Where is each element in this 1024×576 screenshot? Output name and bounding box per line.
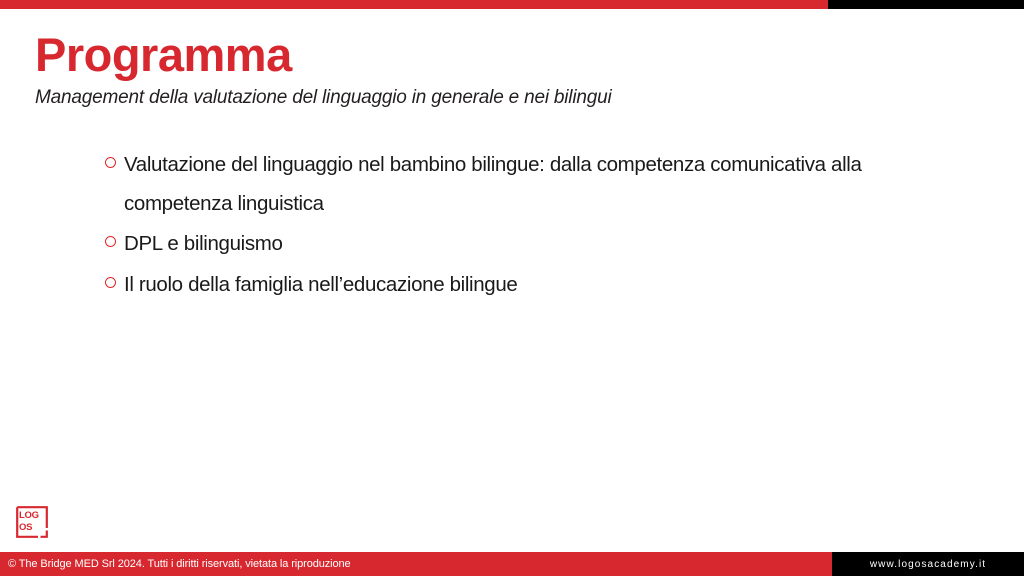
list-item-label: DPL e bilinguismo <box>124 225 283 264</box>
circle-bullet-icon <box>105 157 116 168</box>
bullet-list: Valutazione del linguaggio nel bambino b… <box>105 146 925 306</box>
footer-right-black-segment: www.logosacademy.it <box>832 552 1024 576</box>
top-accent-bar-black-segment <box>828 0 1024 9</box>
list-item-label: Valutazione del linguaggio nel bambino b… <box>124 146 925 223</box>
list-item-label: Il ruolo della famiglia nell’educazione … <box>124 266 517 305</box>
page-title: Programma <box>35 30 935 79</box>
heading-block: Programma Management della valutazione d… <box>35 30 935 109</box>
top-accent-bar <box>0 0 1024 9</box>
footer-copyright-text: © The Bridge MED Srl 2024. Tutti i dirit… <box>8 558 351 570</box>
logos-logo: LOG OS <box>16 506 48 538</box>
circle-bullet-icon <box>105 236 116 247</box>
slide: Programma Management della valutazione d… <box>0 0 1024 576</box>
list-item: Il ruolo della famiglia nell’educazione … <box>105 266 925 305</box>
footer-left-red-segment: © The Bridge MED Srl 2024. Tutti i dirit… <box>0 552 832 576</box>
list-item: Valutazione del linguaggio nel bambino b… <box>105 146 925 223</box>
logos-wordmark: LOG OS <box>19 510 45 533</box>
footer-bar: © The Bridge MED Srl 2024. Tutti i dirit… <box>0 552 1024 576</box>
page-subtitle: Management della valutazione del linguag… <box>35 87 935 109</box>
list-item: DPL e bilinguismo <box>105 225 925 264</box>
footer-website-link[interactable]: www.logosacademy.it <box>870 559 986 570</box>
circle-bullet-icon <box>105 277 116 288</box>
logos-wordmark-line2: OS <box>19 522 45 534</box>
top-accent-bar-red-segment <box>0 0 828 9</box>
logos-wordmark-line1: LOG <box>19 510 39 521</box>
